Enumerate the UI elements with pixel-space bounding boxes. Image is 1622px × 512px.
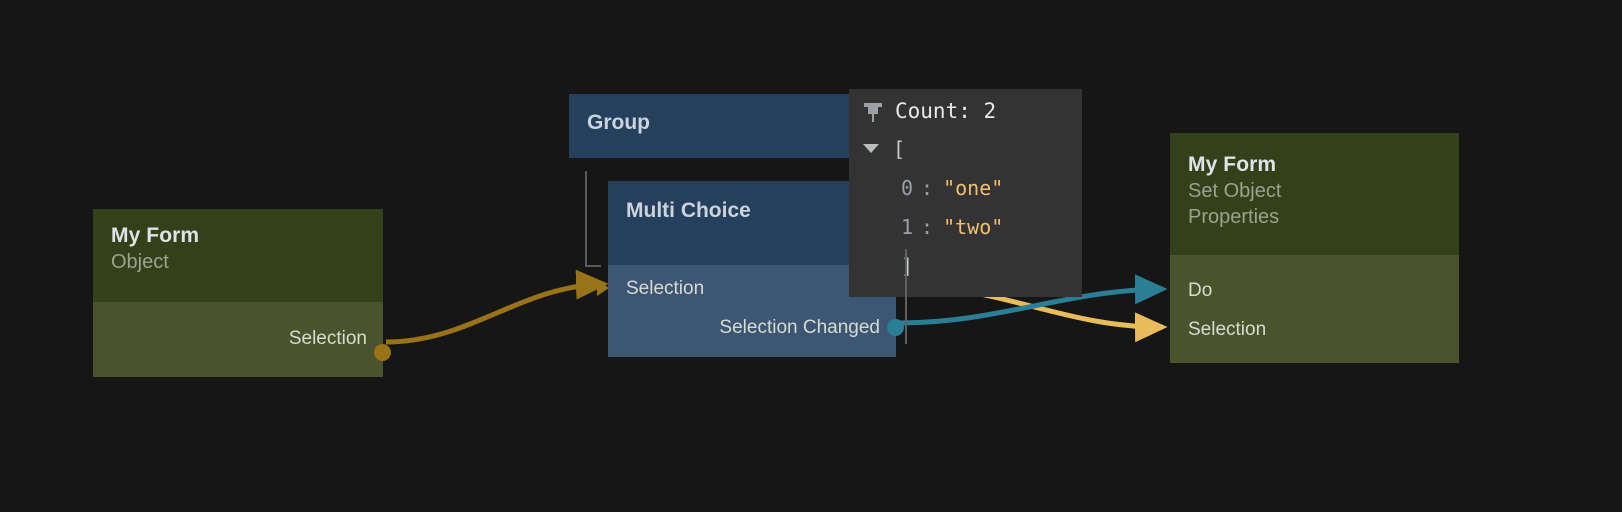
entry-separator: : <box>921 176 933 200</box>
pin-icon[interactable] <box>863 99 883 123</box>
node-header[interactable]: My Form Object <box>93 209 383 302</box>
node-graph-canvas[interactable]: My Form Object Selection Group Multi Cho… <box>0 0 1622 512</box>
output-port-dot[interactable] <box>887 319 904 336</box>
open-bracket: [ <box>893 137 905 161</box>
tooltip-entry-row[interactable]: 0 : "one" <box>849 168 1082 207</box>
tooltip-array-close-row: ] <box>849 246 1082 285</box>
tooltip-array-open-row[interactable]: [ <box>849 129 1082 168</box>
entry-separator: : <box>921 215 933 239</box>
group-connector-elbow <box>585 265 601 267</box>
node-title: My Form <box>111 223 365 249</box>
entry-value: "one" <box>943 176 1003 200</box>
node-body: Selection <box>93 302 383 377</box>
output-port-selection-changed[interactable]: Selection Changed <box>608 308 896 347</box>
output-port-dot[interactable] <box>374 344 391 361</box>
input-port-do[interactable]: Do <box>1170 271 1459 310</box>
node-body: Do Selection <box>1170 255 1459 363</box>
entry-key: 1 <box>901 215 913 239</box>
tooltip-entry-row[interactable]: 1 : "two" <box>849 207 1082 246</box>
close-bracket: ] <box>901 254 913 278</box>
port-label: Selection <box>626 278 704 300</box>
node-subtitle-line-1: Set Object <box>1188 178 1441 204</box>
group-connector-line <box>585 171 587 267</box>
input-port-selection[interactable]: Selection <box>1170 310 1459 349</box>
entry-key: 0 <box>901 176 913 200</box>
tree-guide-line <box>905 249 907 344</box>
output-port-selection[interactable]: Selection <box>93 319 383 358</box>
value-inspector-tooltip[interactable]: Count: 2 [ 0 : "one" 1 : "two" ] <box>849 89 1082 297</box>
entry-value: "two" <box>943 215 1003 239</box>
port-label: Selection Changed <box>719 317 880 339</box>
input-arrow-icon[interactable] <box>597 280 609 296</box>
port-label: Selection <box>1188 319 1266 341</box>
node-my-form-set-object-properties[interactable]: My Form Set Object Properties Do Selecti… <box>1170 133 1459 363</box>
tooltip-count-label: Count: 2 <box>895 99 996 123</box>
tooltip-header: Count: 2 <box>849 99 1082 129</box>
triangle-down-icon[interactable] <box>863 144 879 153</box>
edge-selection-to-multichoice <box>386 284 604 342</box>
node-subtitle: Object <box>111 249 365 275</box>
node-title: Multi Choice <box>626 198 878 224</box>
node-title: My Form <box>1188 152 1441 178</box>
port-label: Selection <box>289 328 367 350</box>
port-label: Do <box>1188 280 1212 302</box>
node-my-form-object[interactable]: My Form Object Selection <box>93 209 383 377</box>
node-subtitle-line-2: Properties <box>1188 204 1441 230</box>
node-header[interactable]: My Form Set Object Properties <box>1170 133 1459 255</box>
